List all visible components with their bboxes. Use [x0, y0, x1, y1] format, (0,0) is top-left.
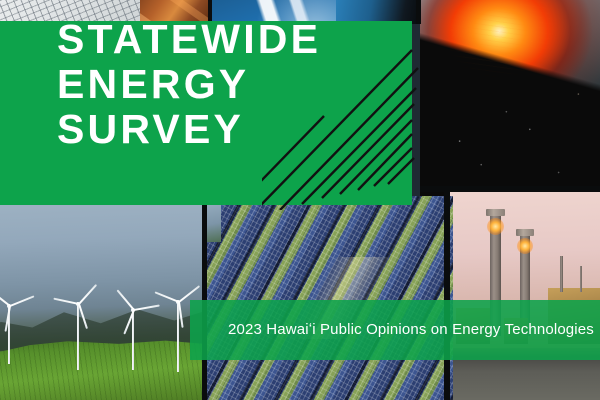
photo-solar-panel-farm-aerial [205, 196, 453, 400]
photo-volcano-lava-eruption [420, 0, 600, 196]
collage-seam-vertical-left [202, 196, 207, 400]
subtitle-text: 2023 Hawaiʻi Public Opinions on Energy T… [190, 320, 594, 340]
collage-seam-horizontal [420, 186, 600, 192]
photo-oil-refinery-smokestacks [448, 190, 600, 400]
collage-seam-top-right [416, 0, 421, 24]
photo-wind-turbine-farm [0, 196, 212, 400]
page-title: STATEWIDE ENERGY SURVEY [57, 17, 321, 152]
poster-canvas: STATEWIDE ENERGY SURVEY 2023 Hawaiʻi Pub… [0, 0, 600, 400]
subtitle-banner: 2023 Hawaiʻi Public Opinions on Energy T… [190, 300, 600, 360]
collage-seam-vertical-right [444, 190, 450, 400]
